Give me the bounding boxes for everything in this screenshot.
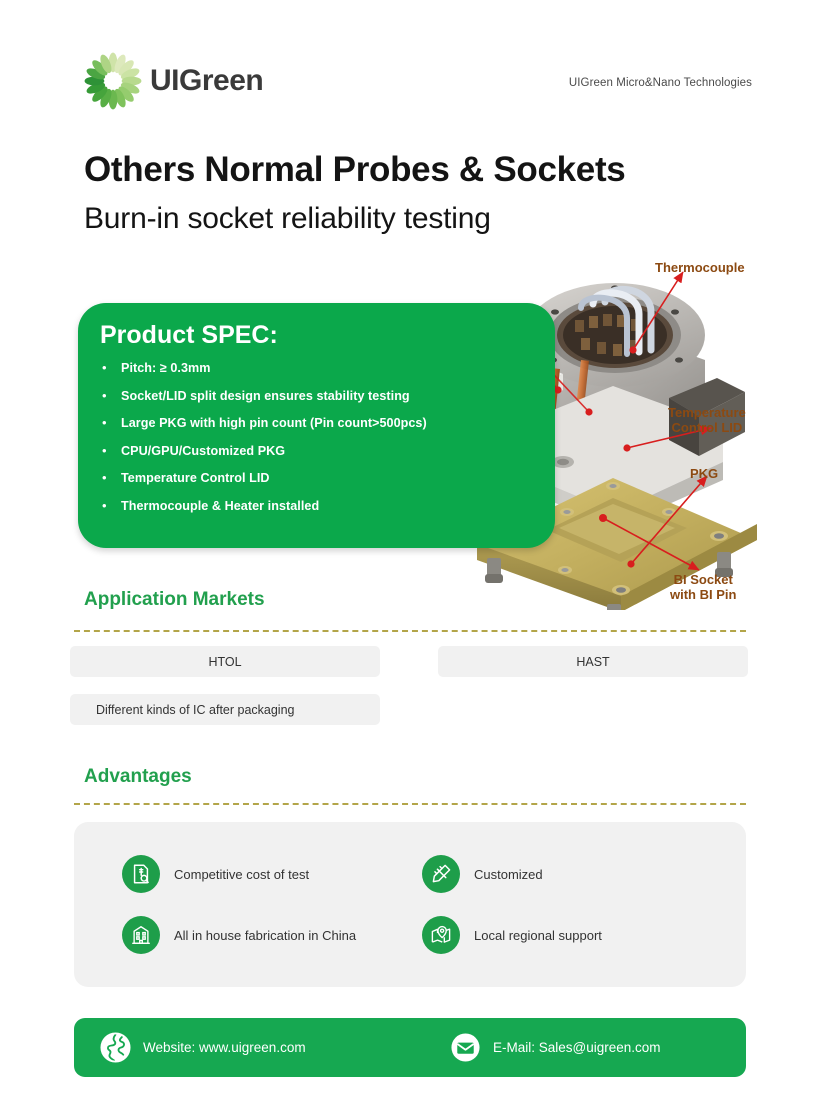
spec-item-label: Pitch: ≥ 0.3mm xyxy=(121,361,211,375)
spec-item-label: Thermocouple & Heater installed xyxy=(121,499,319,513)
envelope-icon xyxy=(450,1032,481,1063)
footer-email[interactable]: E-Mail: Sales@uigreen.com xyxy=(450,1032,661,1063)
pencil-ruler-icon xyxy=(422,855,460,893)
spec-item-label: Socket/LID split design ensures stabilit… xyxy=(121,389,410,403)
bullet-glyph: • xyxy=(102,499,108,513)
advantage-item-support: Local regional support xyxy=(422,916,602,954)
footer-website-label: Website: www.uigreen.com xyxy=(143,1040,306,1055)
spec-list-item: • Thermocouple & Heater installed xyxy=(102,499,542,513)
advantage-label: Local regional support xyxy=(474,928,602,943)
advantage-item-fabrication: All in house fabrication in China xyxy=(122,916,356,954)
product-datasheet-page: UIGreen UIGreen Micro&Nano Technologies … xyxy=(0,0,820,1115)
brand-logo[interactable]: UIGreen xyxy=(84,52,263,110)
spec-list-item: • Large PKG with high pin count (Pin cou… xyxy=(102,416,542,430)
footer-website[interactable]: Website: www.uigreen.com xyxy=(100,1032,306,1063)
advantage-label: All in house fabrication in China xyxy=(174,928,356,943)
label-temperature-control-lid-line1: Temperature xyxy=(668,405,746,420)
spec-panel-title: Product SPEC: xyxy=(100,321,278,350)
page-header: UIGreen UIGreen Micro&Nano Technologies xyxy=(0,0,820,130)
spec-item-label: Temperature Control LID xyxy=(121,471,270,485)
page-subtitle: Burn-in socket reliability testing xyxy=(84,202,491,236)
advantage-label: Competitive cost of test xyxy=(174,867,309,882)
bullet-glyph: • xyxy=(102,389,108,403)
company-name: UIGreen Micro&Nano Technologies xyxy=(569,77,752,89)
label-bi-socket-line2: with BI Pin xyxy=(670,587,736,602)
advantages-heading: Advantages xyxy=(84,766,192,788)
bullet-glyph: • xyxy=(102,361,108,375)
application-markets-heading: Application Markets xyxy=(84,589,265,611)
spec-list-item: • CPU/GPU/Customized PKG xyxy=(102,444,542,458)
market-box-label: HAST xyxy=(576,655,609,669)
label-thermocouple: Thermocouple xyxy=(655,260,745,275)
spec-item-label: CPU/GPU/Customized PKG xyxy=(121,444,285,458)
advantage-item-cost: Competitive cost of test xyxy=(122,855,309,893)
spec-item-label: Large PKG with high pin count (Pin count… xyxy=(121,416,427,430)
advantage-label: Customized xyxy=(474,867,543,882)
cost-document-search-icon xyxy=(122,855,160,893)
footer-email-label: E-Mail: Sales@uigreen.com xyxy=(493,1040,661,1055)
contact-footer: Website: www.uigreen.com E-Mail: Sales@u… xyxy=(74,1018,746,1077)
map-location-pin-icon xyxy=(422,916,460,954)
market-box-label: Different kinds of IC after packaging xyxy=(96,703,295,717)
label-pkg: PKG xyxy=(690,466,718,481)
advantage-item-customized: Customized xyxy=(422,855,543,893)
factory-building-icon xyxy=(122,916,160,954)
bullet-glyph: • xyxy=(102,416,108,430)
logo-wordmark: UIGreen xyxy=(150,64,263,98)
market-box-label: HTOL xyxy=(208,655,241,669)
globe-icon xyxy=(100,1032,131,1063)
market-box-ic-packaging[interactable]: Different kinds of IC after packaging xyxy=(70,694,380,725)
bullet-glyph: • xyxy=(102,471,108,485)
uigreen-flower-logo-icon xyxy=(84,52,142,110)
spec-list-item: • Socket/LID split design ensures stabil… xyxy=(102,389,542,403)
label-bi-socket: BI Socket with BI Pin xyxy=(670,572,736,602)
application-markets-divider xyxy=(74,630,746,632)
spec-list-item: • Pitch: ≥ 0.3mm xyxy=(102,361,542,375)
advantages-panel: Competitive cost of test Customized xyxy=(74,822,746,987)
product-spec-panel: Product SPEC: • Pitch: ≥ 0.3mm • Socket/… xyxy=(78,303,555,548)
spec-list-item: • Temperature Control LID xyxy=(102,471,542,485)
label-temperature-control-lid-line2: Control LID xyxy=(668,420,746,435)
market-box-htol[interactable]: HTOL xyxy=(70,646,380,677)
bullet-glyph: • xyxy=(102,444,108,458)
label-temperature-control-lid: Temperature Control LID xyxy=(668,405,746,435)
advantages-divider xyxy=(74,803,746,805)
page-title: Others Normal Probes & Sockets xyxy=(84,150,625,190)
spec-list: • Pitch: ≥ 0.3mm • Socket/LID split desi… xyxy=(102,361,542,526)
label-bi-socket-line1: BI Socket xyxy=(670,572,736,587)
market-box-hast[interactable]: HAST xyxy=(438,646,748,677)
